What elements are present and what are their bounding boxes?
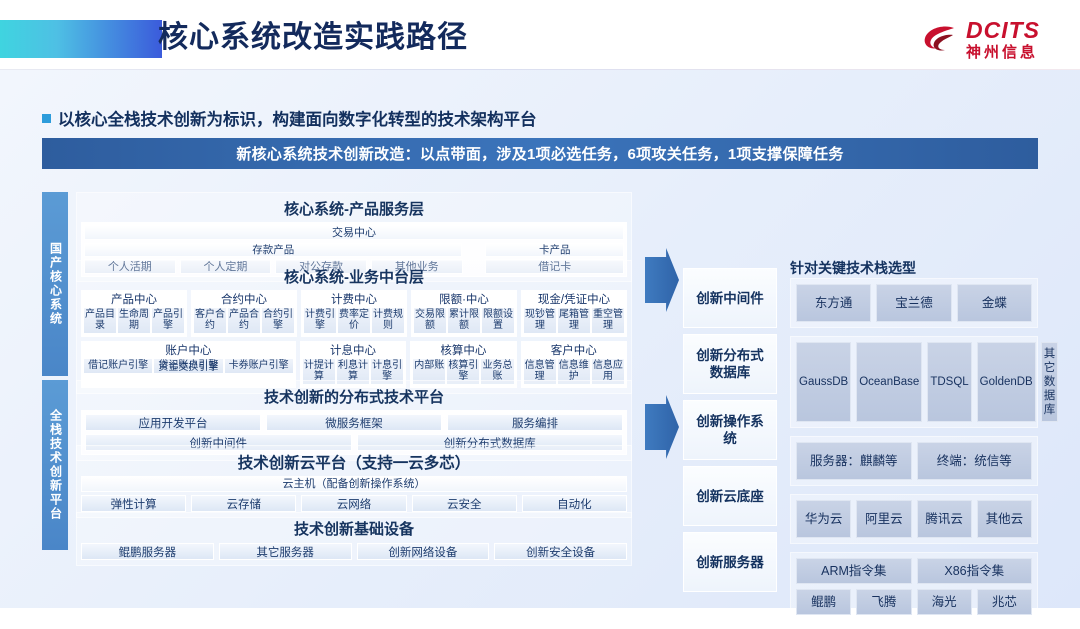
section-infrastructure: 技术创新基础设备 鲲鹏服务器 其它服务器 创新网络设备 创新安全设备 (76, 512, 632, 566)
page-header: 核心系统改造实践路径 DCITS 神州信息 (0, 0, 1080, 78)
vendor-tile[interactable]: 腾讯云 (917, 500, 972, 538)
tech-group-os: 服务器：麒麟等 终端：统信等 (790, 436, 1038, 486)
innovation-box-cloud-base[interactable]: 创新云底座 (683, 466, 777, 526)
tech-group-cpu: ARM指令集 X86指令集 鲲鹏 飞腾 海光 兆芯 (790, 552, 1038, 621)
vendor-tile[interactable]: 服务器：麒麟等 (796, 442, 912, 480)
dcits-logo: DCITS 神州信息 (920, 16, 1040, 62)
center-cell[interactable]: 计费引擎 (304, 308, 336, 333)
center-cell[interactable]: 限额设置 (482, 308, 514, 333)
cpu-vendor-tile[interactable]: 兆芯 (977, 589, 1032, 615)
logo-subtext: 神州信息 (966, 45, 1040, 60)
infra-item[interactable]: 创新网络设备 (357, 543, 490, 560)
center-name: 计费中心 (304, 293, 404, 307)
banner-strip: 新核心系统技术创新改造：以点带面，涉及1项必选任务，6项攻关任务，1项支撑保障任… (42, 138, 1038, 169)
center-name: 客户中心 (524, 344, 624, 358)
vtab-fullstack-platform: 全栈技术创新平台 (42, 380, 68, 550)
center-cell[interactable]: 现钞管理 (524, 308, 556, 333)
vendor-tile[interactable]: GoldenDB (977, 342, 1036, 422)
vendor-tile[interactable]: 终端：统信等 (917, 442, 1033, 480)
bullet-square-icon (42, 114, 51, 123)
trade-center-chip[interactable]: 交易中心 (84, 225, 624, 240)
infra-item[interactable]: 创新安全设备 (494, 543, 627, 560)
center-card[interactable]: 计费中心 计费引擎 费率定价 计费规则 (301, 290, 407, 337)
instruction-set-tile[interactable]: ARM指令集 (796, 558, 912, 584)
innovation-box-middleware[interactable]: 创新中间件 (683, 268, 777, 328)
vendor-tile[interactable]: TDSQL (927, 342, 971, 422)
vendor-tile[interactable]: 金蝶 (957, 284, 1032, 322)
logo-swirl-icon (920, 19, 960, 59)
account-overlay-label: 资金交换引擎 (82, 358, 295, 373)
vendor-tile[interactable]: OceanBase (856, 342, 922, 422)
center-card[interactable]: 合约中心 客户合约 产品合约 合约引擎 (191, 290, 297, 337)
header-accent-bar (0, 20, 162, 58)
vendor-tile[interactable]: 阿里云 (856, 500, 911, 538)
innovation-tasks-column: 创新中间件 创新分布式数据库 创新操作系统 创新云底座 创新服务器 (683, 268, 777, 598)
center-cell[interactable]: 产品引擎 (152, 308, 184, 333)
center-cell[interactable]: 费率定价 (338, 308, 370, 333)
vendor-tile[interactable]: 其他云 (977, 500, 1032, 538)
center-cell[interactable]: 生命周期 (118, 308, 150, 333)
cloud-item[interactable]: 云存储 (191, 495, 296, 512)
vendor-tile[interactable]: 东方通 (796, 284, 871, 322)
dist-platform-item[interactable]: 微服务框架 (266, 414, 442, 431)
business-mid-title: 核心系统-业务中台层 (81, 263, 627, 290)
business-mid-row-1: 产品中心 产品目录 生命周期 产品引擎 合约中心 客户合约 产品合约 合约引擎 (81, 290, 627, 337)
vendor-tile[interactable]: 宝兰德 (876, 284, 951, 322)
vtab-core-system: 国产核心系统 (42, 192, 68, 376)
cloud-item[interactable]: 云安全 (412, 495, 517, 512)
slide-canvas: 以核心全栈技术创新为标识，构建面向数字化转型的技术架构平台 新核心系统技术创新改… (0, 70, 1080, 608)
arrow-to-core-innovations (645, 248, 679, 312)
instruction-set-tile[interactable]: X86指令集 (917, 558, 1033, 584)
cloud-item[interactable]: 弹性计算 (81, 495, 186, 512)
cloud-host-chip[interactable]: 云主机（配备创新操作系统） (81, 476, 627, 492)
infra-item[interactable]: 鲲鹏服务器 (81, 543, 214, 560)
arrow-to-platform-innovations (645, 395, 679, 459)
infra-title: 技术创新基础设备 (81, 515, 627, 542)
innovation-box-server[interactable]: 创新服务器 (683, 532, 777, 592)
center-name: 计息中心 (303, 344, 403, 358)
page-title: 核心系统改造实践路径 (158, 18, 468, 58)
center-name: 核算中心 (413, 344, 513, 358)
center-cell[interactable]: 产品目录 (84, 308, 116, 333)
tech-group-cloud: 华为云 阿里云 腾讯云 其他云 (790, 494, 1038, 544)
center-name: 账户中心 (84, 344, 293, 358)
vendor-tile[interactable]: 其它数据库 (1041, 342, 1059, 422)
cloud-item[interactable]: 自动化 (522, 495, 627, 512)
center-name: 现金/凭证中心 (524, 293, 624, 307)
dist-platform-item[interactable]: 应用开发平台 (85, 414, 261, 431)
logo-wordmark: DCITS (966, 19, 1040, 42)
deposit-product-label: 存款产品 (84, 243, 462, 257)
innovation-box-os[interactable]: 创新操作系统 (683, 400, 777, 460)
bullet-heading: 以核心全栈技术创新为标识，构建面向数字化转型的技术架构平台 (42, 106, 537, 130)
tech-group-database: GaussDB OceanBase TDSQL GoldenDB 其它数据库 (790, 336, 1038, 428)
center-cell[interactable]: 计费规则 (372, 308, 404, 333)
vendor-tile[interactable]: GaussDB (796, 342, 851, 422)
center-cell[interactable]: 产品合约 (228, 308, 260, 333)
tech-stack-column: 东方通 宝兰德 金蝶 GaussDB OceanBase TDSQL Golde… (790, 278, 1038, 629)
cloud-platform-title: 技术创新云平台（支持一云多芯） (81, 448, 627, 476)
bullet-heading-text: 以核心全栈技术创新为标识，构建面向数字化转型的技术架构平台 (58, 106, 537, 130)
cpu-vendor-tile[interactable]: 飞腾 (856, 589, 911, 615)
center-cell[interactable]: 尾箱管理 (558, 308, 590, 333)
center-name: 合约中心 (194, 293, 294, 307)
dist-platform-item[interactable]: 服务编排 (447, 414, 623, 431)
innovation-box-distributed-db[interactable]: 创新分布式数据库 (683, 334, 777, 394)
section-cloud-platform: 技术创新云平台（支持一云多芯） 云主机（配备创新操作系统） 弹性计算 云存储 云… (76, 445, 632, 518)
center-cell[interactable]: 合约引擎 (262, 308, 294, 333)
tech-stack-title: 针对关键技术栈选型 (790, 258, 916, 278)
vendor-tile[interactable]: 华为云 (796, 500, 851, 538)
card-product-label: 卡产品 (485, 243, 624, 257)
infra-item[interactable]: 其它服务器 (219, 543, 352, 560)
dist-platform-title: 技术创新的分布式技术平台 (81, 383, 627, 410)
center-card[interactable]: 现金/凭证中心 现钞管理 尾箱管理 重空管理 (521, 290, 627, 337)
center-card[interactable]: 限额·中心 交易限额 累计限额 限额设置 (411, 290, 517, 337)
cpu-vendor-tile[interactable]: 鲲鹏 (796, 589, 851, 615)
center-cell[interactable]: 重空管理 (592, 308, 624, 333)
product-service-title: 核心系统-产品服务层 (81, 195, 627, 222)
center-cell[interactable]: 交易限额 (414, 308, 446, 333)
section-business-mid-layer: 核心系统-业务中台层 产品中心 产品目录 生命周期 产品引擎 合约中心 客户 (76, 260, 632, 394)
center-card[interactable]: 产品中心 产品目录 生命周期 产品引擎 (81, 290, 187, 337)
center-cell[interactable]: 客户合约 (194, 308, 226, 333)
center-name: 产品中心 (84, 293, 184, 307)
tech-group-middleware: 东方通 宝兰德 金蝶 (790, 278, 1038, 328)
cpu-vendor-tile[interactable]: 海光 (917, 589, 972, 615)
center-name: 限额·中心 (414, 293, 514, 307)
left-architecture-panel: 国产核心系统 全栈技术创新平台 核心系统-产品服务层 交易中心 存款产品 个人活… (42, 192, 632, 550)
center-cell[interactable]: 累计限额 (448, 308, 480, 333)
cloud-item[interactable]: 云网络 (301, 495, 406, 512)
